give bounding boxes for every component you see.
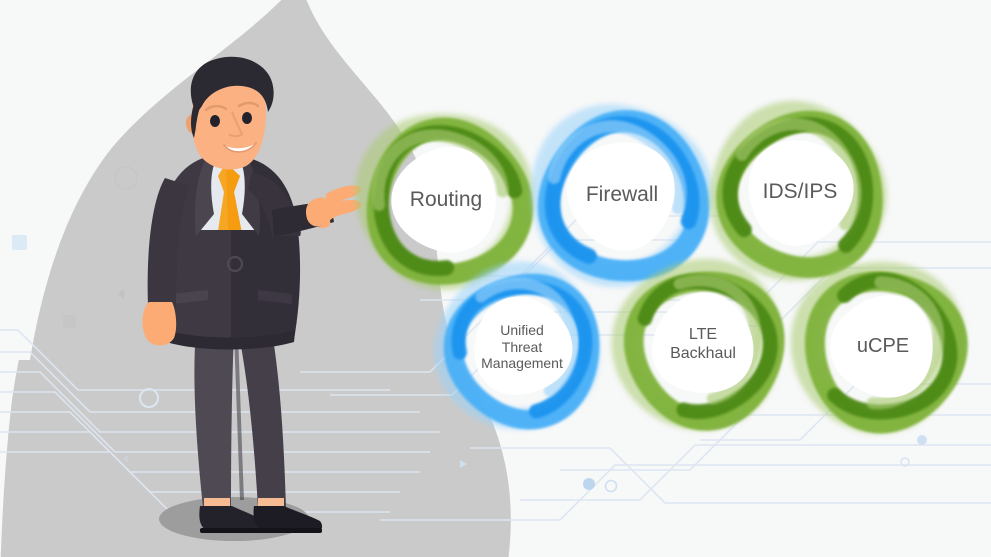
bubble-core	[749, 140, 854, 246]
bubble-core	[391, 147, 495, 253]
bubbles-layer	[0, 0, 991, 557]
bubble-lte-backhaul[interactable]	[623, 270, 775, 421]
bubble-core	[830, 295, 933, 397]
bubble-firewall[interactable]	[543, 116, 701, 276]
bubble-core	[567, 142, 675, 250]
bubble-ucpe[interactable]	[802, 273, 958, 423]
bubble-ids-ips[interactable]	[721, 112, 875, 269]
bubble-routing[interactable]	[367, 125, 523, 279]
bubble-core	[652, 293, 753, 393]
bubble-unified-threat-management[interactable]	[445, 272, 590, 420]
scene-root: RoutingFirewallIDS/IPSUnified Threat Man…	[0, 0, 991, 557]
